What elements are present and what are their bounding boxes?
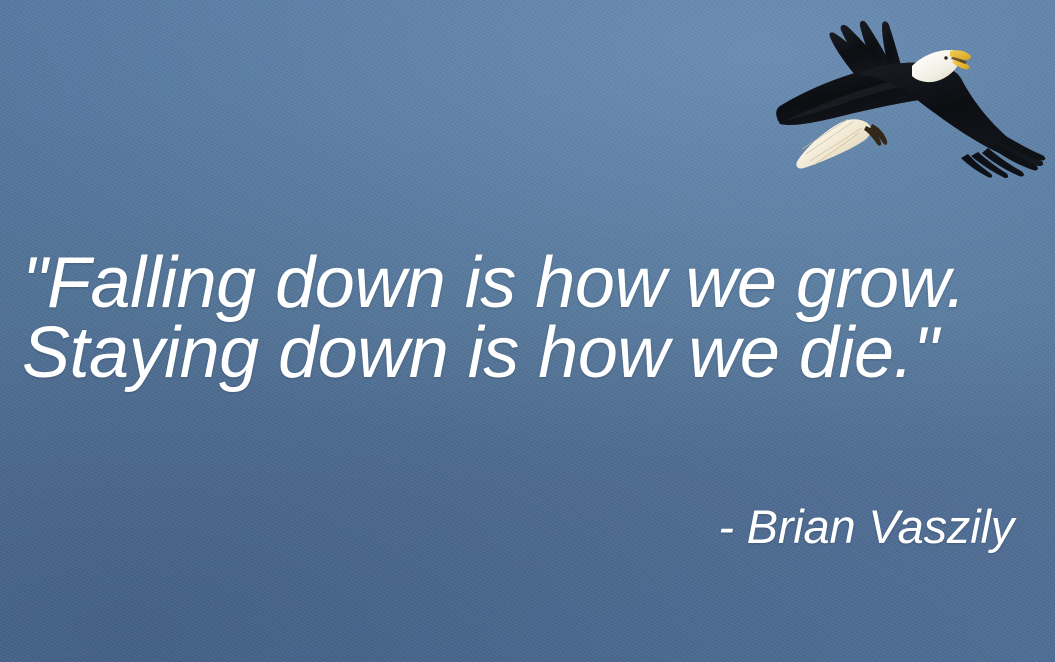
- eagle-head: [912, 50, 971, 82]
- quote-text-block: "Falling down is how we grow. Staying do…: [22, 248, 1032, 388]
- bald-eagle-photo-subject: [762, 18, 1047, 178]
- quote-line-1: "Falling down is how we grow.: [22, 248, 1032, 318]
- eagle-body-and-right-wing: [858, 62, 1045, 178]
- quote-attribution: - Brian Vaszily: [0, 500, 1014, 554]
- quote-line-2: Staying down is how we die.": [22, 318, 1032, 388]
- quote-poster: "Falling down is how we grow. Staying do…: [0, 0, 1055, 662]
- eagle-tail: [796, 119, 871, 169]
